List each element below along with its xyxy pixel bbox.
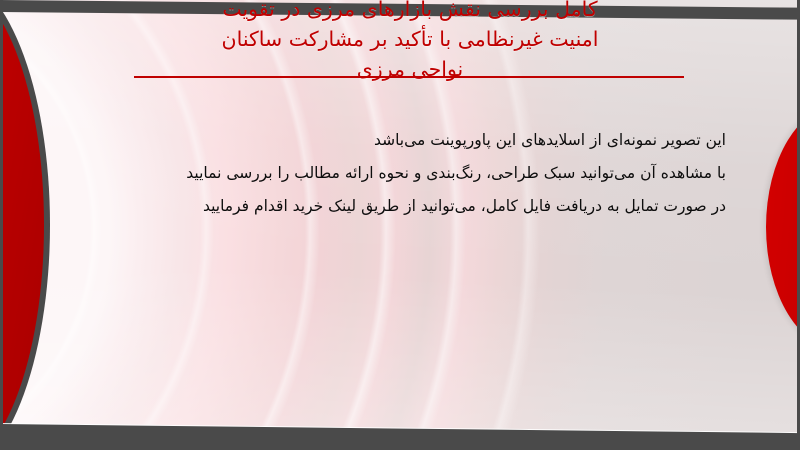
red-lens-shape — [0, 0, 50, 450]
frame-edge-left — [0, 0, 3, 450]
title-line-1: کامل بررسی نقش بازارهای مرزی در تقویت — [90, 0, 730, 24]
title-line-3: نواحی مرزی — [90, 54, 730, 84]
slide-body-text: این تصویر نمونه‌ای از اسلایدهای این پاور… — [150, 124, 726, 223]
title-line-2: امنیت غیرنظامی با تأکید بر مشارکت ساکنان — [90, 24, 730, 54]
slide-canvas: کامل بررسی نقش بازارهای مرزی در تقویت ام… — [0, 0, 800, 450]
body-line-3: در صورت تمایل به دریافت فایل کامل، می‌تو… — [150, 190, 726, 223]
slide-title: کامل بررسی نقش بازارهای مرزی در تقویت ام… — [90, 0, 730, 84]
body-line-2: با مشاهده آن می‌توانید سبک طراحی، رنگ‌بن… — [150, 157, 726, 190]
body-line-1: این تصویر نمونه‌ای از اسلایدهای این پاور… — [150, 124, 726, 157]
title-underline-rule — [134, 76, 684, 78]
